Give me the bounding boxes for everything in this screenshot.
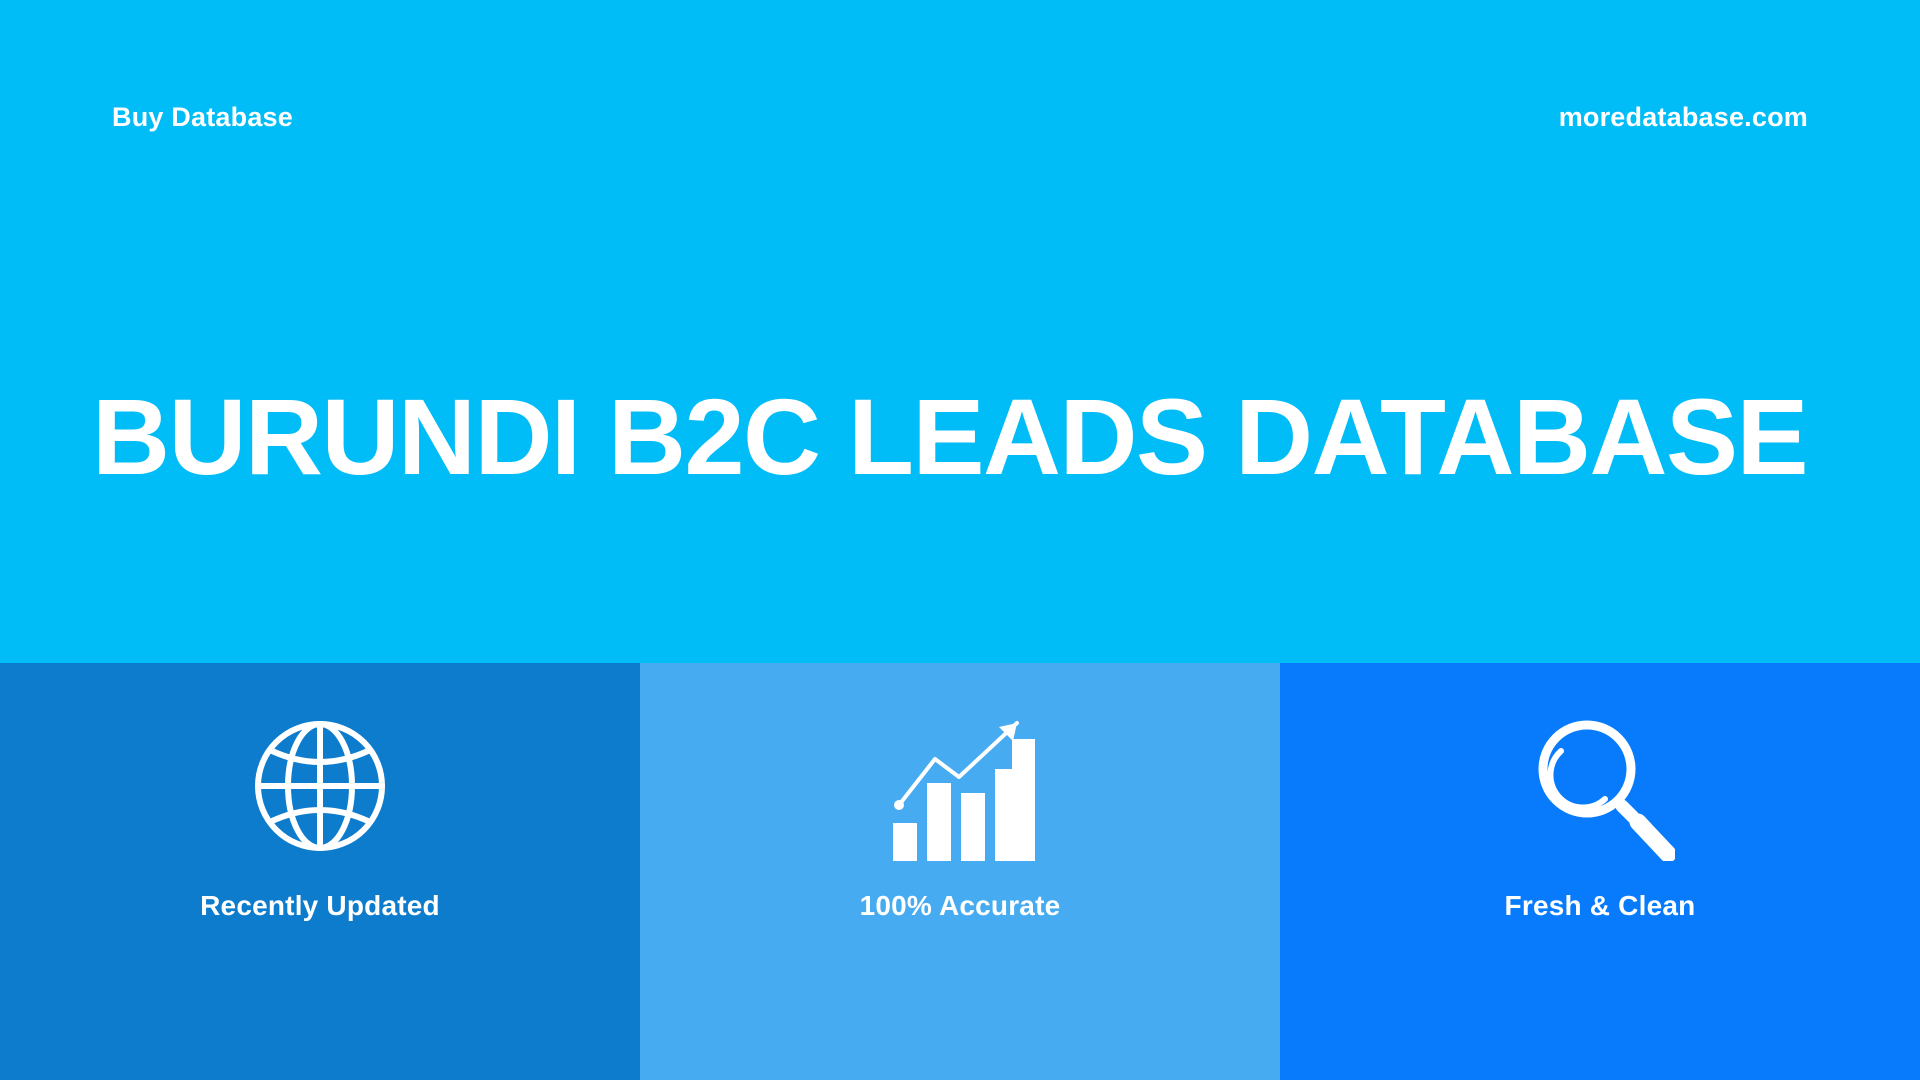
banner-header: Buy Database moredatabase.com bbox=[0, 0, 1920, 210]
feature-label: 100% Accurate bbox=[860, 892, 1061, 920]
globe-icon bbox=[240, 706, 400, 866]
site-url-label: moredatabase.com bbox=[1559, 104, 1808, 131]
brand-label: Buy Database bbox=[112, 104, 293, 131]
hero-section: BURUNDI B2C LEADS DATABASE bbox=[0, 210, 1920, 663]
feature-band: Recently Updated bbox=[0, 663, 1920, 1080]
feature-panel-fresh-clean: Fresh & Clean bbox=[1280, 663, 1920, 1080]
promo-banner: Buy Database moredatabase.com BURUNDI B2… bbox=[0, 0, 1920, 1080]
bar-chart-growth-icon bbox=[880, 706, 1040, 866]
feature-panel-recently-updated: Recently Updated bbox=[0, 663, 640, 1080]
page-title: BURUNDI B2C LEADS DATABASE bbox=[92, 380, 1807, 493]
feature-label: Recently Updated bbox=[200, 892, 440, 920]
magnifier-icon bbox=[1520, 706, 1680, 866]
feature-label: Fresh & Clean bbox=[1505, 892, 1696, 920]
feature-panel-accurate: 100% Accurate bbox=[640, 663, 1280, 1080]
